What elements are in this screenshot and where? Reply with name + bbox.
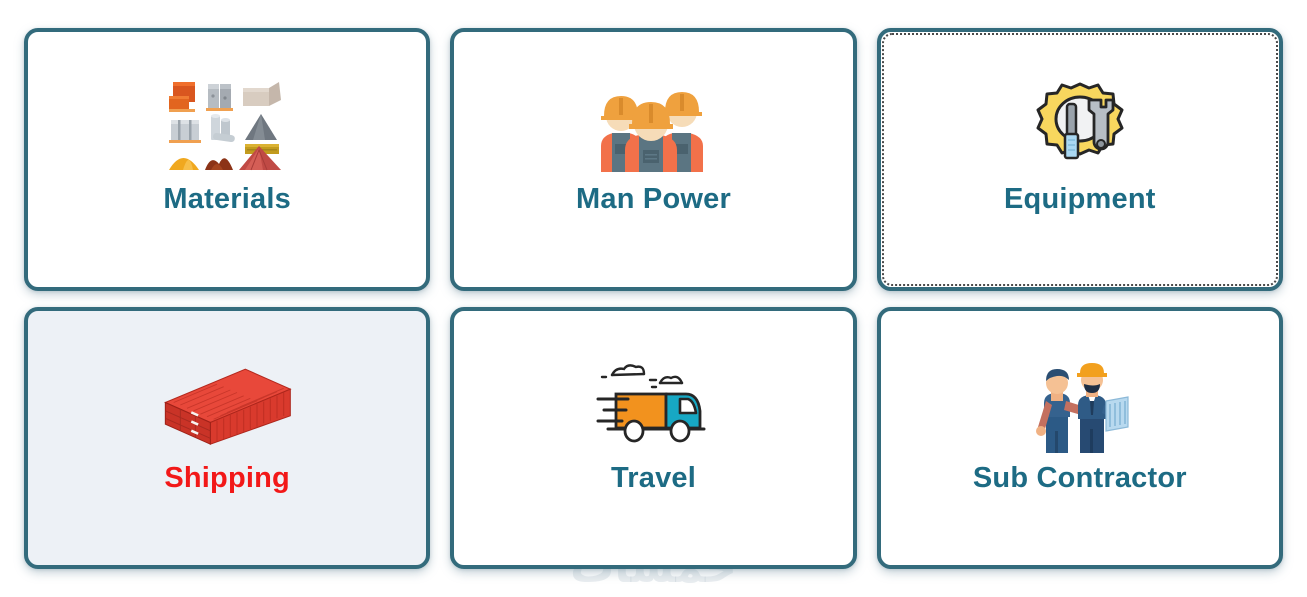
category-card-grid: Materials (0, 0, 1307, 597)
card-content-materials: Materials (157, 74, 297, 216)
card-content-man-power: Man Power (576, 74, 731, 216)
card-content-travel: Travel (583, 353, 723, 495)
card-label-travel: Travel (611, 463, 696, 495)
card-equipment[interactable]: Equipment (877, 28, 1283, 291)
card-shipping[interactable]: Shipping (24, 307, 430, 570)
gear-tools-icon (1010, 74, 1150, 178)
card-label-sub-contractor: Sub Contractor (973, 463, 1187, 495)
contractor-workers-icon (1010, 353, 1150, 457)
card-man-power[interactable]: Man Power (450, 28, 856, 291)
card-sub-contractor[interactable]: Sub Contractor (877, 307, 1283, 570)
card-content-shipping: Shipping (157, 353, 297, 495)
card-label-man-power: Man Power (576, 184, 731, 216)
construction-materials-icon (157, 74, 297, 178)
card-materials[interactable]: Materials (24, 28, 430, 291)
card-label-materials: Materials (163, 184, 291, 216)
delivery-truck-icon (583, 353, 723, 457)
card-label-shipping: Shipping (164, 463, 290, 495)
construction-workers-icon (583, 74, 723, 178)
card-content-equipment: Equipment (1004, 74, 1156, 216)
card-label-equipment: Equipment (1004, 184, 1156, 216)
card-travel[interactable]: Travel (450, 307, 856, 570)
card-content-sub-contractor: Sub Contractor (973, 353, 1187, 495)
shipping-container-icon (157, 353, 297, 457)
